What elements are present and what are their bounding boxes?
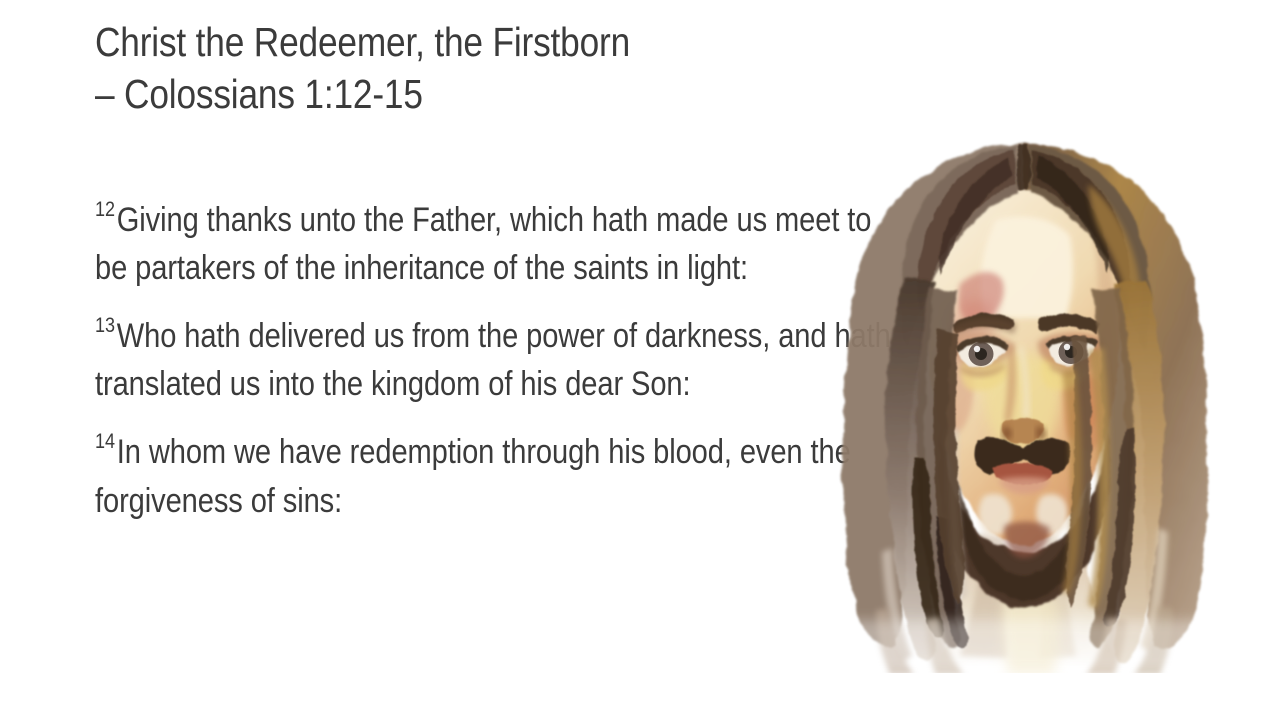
verse-number-12: 12	[95, 198, 117, 221]
portrait-svg	[818, 128, 1228, 673]
verse-text-13: Who hath delivered us from the power of …	[95, 317, 891, 403]
slide-title: Christ the Redeemer, the Firstborn – Col…	[95, 16, 795, 120]
verse-text-14: In whom we have redemption through his b…	[95, 434, 851, 520]
verse-paragraph-13: 13Who hath delivered us from the power o…	[95, 302, 905, 408]
verse-paragraph-14: 14In whom we have redemption through his…	[95, 418, 905, 524]
verse-text-12: Giving thanks unto the Father, which hat…	[95, 201, 871, 287]
watercolor-portrait-of-christ	[818, 128, 1228, 673]
presentation-slide: Christ the Redeemer, the Firstborn – Col…	[0, 0, 1280, 720]
verse-paragraph-12: 12Giving thanks unto the Father, which h…	[95, 186, 905, 292]
title-line-2: – Colossians 1:12-15	[95, 68, 697, 120]
bottom-fade	[818, 620, 1228, 673]
hair-locks-left	[882, 278, 968, 662]
verse-number-14: 14	[95, 430, 117, 453]
scripture-body: 12Giving thanks unto the Father, which h…	[95, 186, 905, 535]
verse-number-13: 13	[95, 314, 117, 337]
title-line-1: Christ the Redeemer, the Firstborn	[95, 16, 697, 68]
